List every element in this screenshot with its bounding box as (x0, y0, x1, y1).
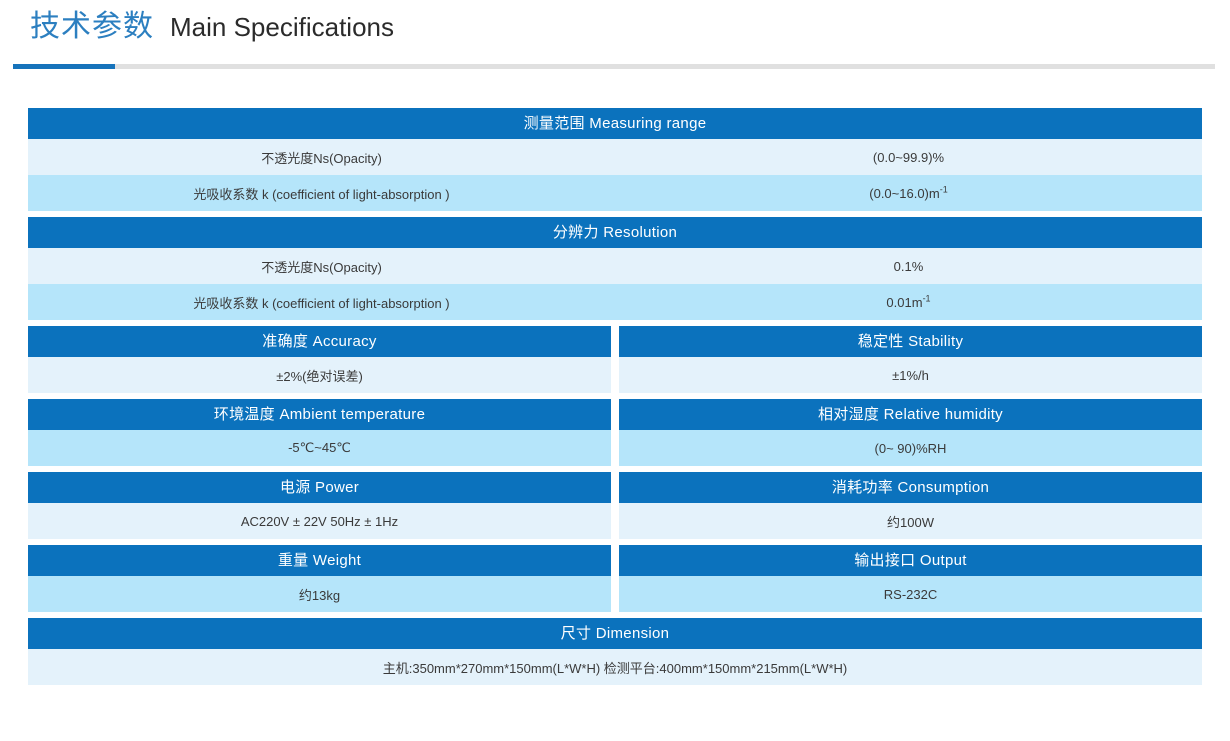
row-value-exponent: -1 (940, 186, 948, 195)
section-power: 电源 Power AC220V ± 22V 50Hz ± 1Hz (28, 472, 611, 539)
table-row: (0~ 90)%RH (619, 430, 1202, 466)
section-heading-output: 输出接口 Output (619, 545, 1202, 576)
row-value: 约13kg (28, 585, 611, 604)
row-value: 约100W (619, 512, 1202, 531)
row-value: 0.01m-1 (615, 295, 1202, 310)
section-pair-temperature-humidity: 环境温度 Ambient temperature -5℃~45℃ 相对湿度 Re… (28, 399, 1202, 466)
section-heading-relative-humidity: 相对湿度 Relative humidity (619, 399, 1202, 430)
section-pair-power-consumption: 电源 Power AC220V ± 22V 50Hz ± 1Hz 消耗功率 Co… (28, 472, 1202, 539)
row-value-base: 0.01m (886, 295, 922, 310)
table-row: 不透光度Ns(Opacity) 0.1% (28, 248, 1202, 284)
section-output: 输出接口 Output RS-232C (619, 545, 1202, 612)
section-stability: 稳定性 Stability ±1%/h (619, 326, 1202, 393)
section-accuracy: 准确度 Accuracy ±2%(绝对误差) (28, 326, 611, 393)
row-value-exponent: -1 (923, 295, 931, 304)
row-value: ±2%(绝对误差) (28, 366, 611, 385)
row-value: RS-232C (619, 587, 1202, 602)
section-heading-stability: 稳定性 Stability (619, 326, 1202, 357)
table-row: AC220V ± 22V 50Hz ± 1Hz (28, 503, 611, 539)
table-row: 主机:350mm*270mm*150mm(L*W*H) 检测平台:400mm*1… (28, 649, 1202, 685)
section-measuring-range: 测量范围 Measuring range 不透光度Ns(Opacity) (0.… (28, 108, 1202, 211)
row-label: 光吸收系数 k (coefficient of light-absorption… (28, 184, 615, 203)
section-heading-measuring-range: 测量范围 Measuring range (28, 108, 1202, 139)
table-row: 光吸收系数 k (coefficient of light-absorption… (28, 284, 1202, 320)
section-ambient-temperature: 环境温度 Ambient temperature -5℃~45℃ (28, 399, 611, 466)
row-value: (0.0~16.0)m-1 (615, 186, 1202, 201)
section-heading-accuracy: 准确度 Accuracy (28, 326, 611, 357)
section-heading-weight: 重量 Weight (28, 545, 611, 576)
row-value-base: (0.0~16.0)m (869, 186, 939, 201)
section-heading-consumption: 消耗功率 Consumption (619, 472, 1202, 503)
section-heading-resolution: 分辨力 Resolution (28, 217, 1202, 248)
section-relative-humidity: 相对湿度 Relative humidity (0~ 90)%RH (619, 399, 1202, 466)
section-resolution: 分辨力 Resolution 不透光度Ns(Opacity) 0.1% 光吸收系… (28, 217, 1202, 320)
row-label: 光吸收系数 k (coefficient of light-absorption… (28, 293, 615, 312)
section-pair-weight-output: 重量 Weight 约13kg 输出接口 Output RS-232C (28, 545, 1202, 612)
section-heading-ambient-temperature: 环境温度 Ambient temperature (28, 399, 611, 430)
table-row: 不透光度Ns(Opacity) (0.0~99.9)% (28, 139, 1202, 175)
page-title-english: Main Specifications (170, 14, 394, 40)
row-value: -5℃~45℃ (28, 440, 611, 456)
row-value: (0~ 90)%RH (619, 441, 1202, 456)
row-value: AC220V ± 22V 50Hz ± 1Hz (28, 514, 611, 529)
table-row: RS-232C (619, 576, 1202, 612)
row-value: (0.0~99.9)% (615, 150, 1202, 165)
row-value: 主机:350mm*270mm*150mm(L*W*H) 检测平台:400mm*1… (28, 658, 1202, 677)
row-value: 0.1% (615, 259, 1202, 274)
title-underline-accent (13, 64, 115, 69)
page-header: 技术参数 Main Specifications (0, 0, 1230, 72)
section-consumption: 消耗功率 Consumption 约100W (619, 472, 1202, 539)
row-label: 不透光度Ns(Opacity) (28, 257, 615, 276)
page-title-chinese: 技术参数 (30, 12, 154, 42)
section-heading-power: 电源 Power (28, 472, 611, 503)
section-pair-accuracy-stability: 准确度 Accuracy ±2%(绝对误差) 稳定性 Stability ±1%… (28, 326, 1202, 393)
specifications-table: 测量范围 Measuring range 不透光度Ns(Opacity) (0.… (28, 108, 1202, 685)
table-row: 约13kg (28, 576, 611, 612)
table-row: 约100W (619, 503, 1202, 539)
row-label: 不透光度Ns(Opacity) (28, 148, 615, 167)
table-row: ±2%(绝对误差) (28, 357, 611, 393)
title-underline (13, 64, 1215, 69)
section-dimension: 尺寸 Dimension 主机:350mm*270mm*150mm(L*W*H)… (28, 618, 1202, 685)
section-heading-dimension: 尺寸 Dimension (28, 618, 1202, 649)
row-value: ±1%/h (619, 368, 1202, 383)
page-title: 技术参数 Main Specifications (30, 12, 1230, 56)
table-row: -5℃~45℃ (28, 430, 611, 466)
table-row: ±1%/h (619, 357, 1202, 393)
section-weight: 重量 Weight 约13kg (28, 545, 611, 612)
table-row: 光吸收系数 k (coefficient of light-absorption… (28, 175, 1202, 211)
